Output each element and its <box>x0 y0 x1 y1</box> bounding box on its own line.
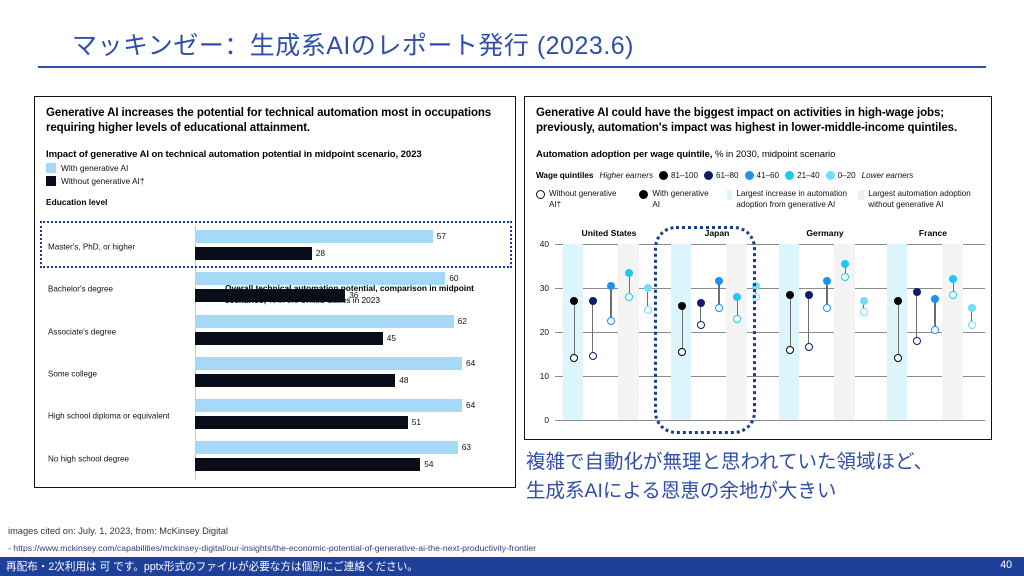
point-without-ai <box>968 321 976 329</box>
bar-area: 6451 <box>195 395 505 437</box>
point-without-ai <box>913 337 921 345</box>
country-group-germany: Germany <box>773 228 877 436</box>
point-with-ai <box>786 291 794 299</box>
band-swatch-icon <box>727 190 732 200</box>
quintile-legend-item: 81–100 <box>659 171 698 180</box>
right-exhibit-headline: Generative AI could have the biggest imp… <box>536 106 980 136</box>
y-axis-tick-label: 10 <box>527 371 549 381</box>
left-exhibit-headline: Generative AI increases the potential fo… <box>46 106 504 136</box>
country-group-united-states: United States <box>557 228 661 436</box>
quintile-legend-item: 41–60 <box>745 171 780 180</box>
bar-area: 6354 <box>195 437 505 479</box>
dumbbell-stem <box>916 292 917 340</box>
quintile-legend-item: 0–20 <box>826 171 856 180</box>
marker-legend-label: Without generative AI† <box>549 189 630 210</box>
quintile-legend-label: 41–60 <box>757 171 780 180</box>
bar-area: 6245 <box>195 311 505 353</box>
point-with-ai <box>607 282 615 290</box>
point-with-ai <box>625 269 633 277</box>
dumbbell-stem <box>898 301 899 358</box>
bar-value-label: 36 <box>349 289 358 302</box>
bar-value-label: 60 <box>449 272 458 285</box>
right-subhead-norm: % in 2030, midpoint scenario <box>715 149 835 160</box>
y-axis-tick-label: 30 <box>527 283 549 293</box>
wage-quintile-legend-label: Wage quintiles <box>536 171 593 180</box>
band-swatch-icon <box>858 190 864 200</box>
point-with-ai <box>752 282 760 290</box>
bar-with-ai <box>195 399 462 412</box>
point-without-ai <box>607 317 615 325</box>
bar-value-label: 48 <box>399 374 408 387</box>
dumbbell-stem <box>808 295 809 348</box>
y-axis-tick-label: 0 <box>527 415 549 425</box>
bar-value-label: 57 <box>437 230 446 243</box>
point-without-ai <box>823 304 831 312</box>
point-without-ai <box>786 346 794 354</box>
marker-legend-item: Without generative AI† <box>536 189 630 210</box>
quintile-dot-icon <box>659 171 668 180</box>
point-without-ai <box>841 273 849 281</box>
point-without-ai <box>860 308 868 316</box>
country-group-france: France <box>881 228 985 436</box>
bar-value-label: 63 <box>462 441 471 454</box>
bar-without-ai <box>195 289 345 302</box>
bar-group: Some college6448 <box>45 353 505 395</box>
point-without-ai <box>697 321 705 329</box>
country-group-japan: Japan <box>665 228 769 436</box>
bar-value-label: 28 <box>316 247 325 260</box>
country-label: Germany <box>773 228 877 238</box>
quintile-legend-label: 61–80 <box>716 171 739 180</box>
quintile-dot-icon <box>704 171 713 180</box>
point-without-ai <box>715 304 723 312</box>
bar-area: 6036 <box>195 268 505 310</box>
quintile-dot-icon <box>745 171 754 180</box>
point-with-ai <box>931 295 939 303</box>
bar-value-label: 62 <box>458 315 467 328</box>
quintile-legend-label: 81–100 <box>671 171 698 180</box>
bar-group: High school diploma or equivalent6451 <box>45 395 505 437</box>
education-bar-chart: Master's, PhD, or higher5728Bachelor's d… <box>45 226 505 480</box>
bar-with-ai <box>195 315 454 328</box>
citation-line-2: - https://www.mckinsey.com/capabilities/… <box>8 543 536 553</box>
point-with-ai <box>894 297 902 305</box>
bar-group: No high school degree6354 <box>45 437 505 479</box>
right-subhead-bold: Automation adoption per wage quintile, <box>536 149 712 160</box>
bar-group: Master's, PhD, or higher5728 <box>45 226 505 268</box>
point-without-ai <box>570 354 578 362</box>
footer-notice-text: 再配布・2次利用は 可 です。pptx形式のファイルが必要な方は個別にご連絡くだ… <box>6 559 418 574</box>
point-without-ai <box>949 291 957 299</box>
legend-swatch-without-ai-icon <box>46 176 56 186</box>
slide-canvas: マッキンゼー：生成系AIのレポート発行 (2023.6) Generative … <box>0 0 1024 576</box>
country-label: Japan <box>665 228 769 238</box>
quintile-dot-icon <box>826 171 835 180</box>
point-with-ai <box>733 293 741 301</box>
bar-with-ai <box>195 441 458 454</box>
country-label: United States <box>557 228 661 238</box>
bar-category-label: No high school degree <box>48 454 129 463</box>
country-plot <box>557 244 661 420</box>
callout-line-2: 生成系AIによる恩恵の余地が大きい <box>526 477 996 506</box>
bar-without-ai <box>195 332 383 345</box>
education-level-axis-label: Education level <box>46 197 504 207</box>
point-without-ai <box>894 354 902 362</box>
marker-legend-label: With generative AI <box>652 189 718 210</box>
legend-item-without-ai: Without generative AI† <box>46 176 504 186</box>
bar-value-label: 64 <box>466 357 475 370</box>
country-label: France <box>881 228 985 238</box>
bar-category-label: Associate's degree <box>48 327 116 336</box>
bar-value-label: 64 <box>466 399 475 412</box>
callout-line-1: 複雑で自動化が無理と思われていた領域ほど、 <box>526 448 996 477</box>
band-legend-item: Largest automation adoption without gene… <box>858 189 980 210</box>
lower-earners-label: Lower earners <box>862 171 914 180</box>
higher-earners-label: Higher earners <box>599 171 653 180</box>
y-axis-tick-label: 40 <box>527 239 549 249</box>
point-with-ai <box>644 284 652 292</box>
bar-category-label: High school diploma or equivalent <box>48 412 169 421</box>
filled-circle-icon <box>639 190 648 199</box>
point-with-ai <box>841 260 849 268</box>
country-plot <box>881 244 985 420</box>
country-plot <box>665 244 769 420</box>
point-with-ai <box>968 304 976 312</box>
bar-with-ai <box>195 357 462 370</box>
left-exhibit-subhead: Impact of generative AI on technical aut… <box>46 149 504 160</box>
bar-group: Bachelor's degree6036 <box>45 268 505 310</box>
wage-quintile-legend: Wage quintiles Higher earners 81–10061–8… <box>536 171 980 180</box>
country-plot <box>773 244 877 420</box>
legend-item-with-ai: With generative AI <box>46 163 504 173</box>
point-without-ai <box>931 326 939 334</box>
bar-area: 5728 <box>195 226 505 268</box>
point-with-ai <box>697 299 705 307</box>
page-title: マッキンゼー：生成系AIのレポート発行 (2023.6) <box>72 26 634 62</box>
point-with-ai <box>805 291 813 299</box>
bar-without-ai <box>195 374 395 387</box>
point-with-ai <box>715 277 723 285</box>
highlight-band-grey <box>726 244 746 420</box>
point-without-ai <box>644 306 652 314</box>
dumbbell-stem <box>574 301 575 358</box>
marker-and-band-legend: Without generative AI†With generative AI… <box>536 189 980 210</box>
bar-value-label: 54 <box>424 458 433 471</box>
dumbbell-stem <box>682 306 683 352</box>
legend-label-with-ai: With generative AI <box>61 163 128 173</box>
bar-category-label: Bachelor's degree <box>48 285 113 294</box>
bar-value-label: 45 <box>387 332 396 345</box>
quintile-legend-label: 0–20 <box>838 171 856 180</box>
hollow-circle-icon <box>536 190 545 199</box>
point-without-ai <box>752 293 760 301</box>
point-without-ai <box>733 315 741 323</box>
dumbbell-stem <box>610 286 611 321</box>
bar-without-ai <box>195 247 312 260</box>
citation-line-1: images cited on: July. 1, 2023, from: Mc… <box>8 526 228 536</box>
legend-label-without-ai: Without generative AI† <box>61 176 144 186</box>
marker-legend-item: With generative AI <box>639 189 718 210</box>
point-with-ai <box>913 288 921 296</box>
bar-category-label: Some college <box>48 370 97 379</box>
bar-group: Associate's degree6245 <box>45 311 505 353</box>
band-legend-label: Largest increase in automation adoption … <box>736 189 849 210</box>
point-with-ai <box>823 277 831 285</box>
point-without-ai <box>678 348 686 356</box>
point-with-ai <box>949 275 957 283</box>
bar-without-ai <box>195 458 420 471</box>
highlight-band-grey <box>942 244 962 420</box>
point-with-ai <box>678 302 686 310</box>
point-with-ai <box>860 297 868 305</box>
band-legend-label: Largest automation adoption without gene… <box>868 189 980 210</box>
legend-swatch-with-ai-icon <box>46 163 56 173</box>
point-without-ai <box>625 293 633 301</box>
quintile-legend-item: 21–40 <box>785 171 820 180</box>
bar-value-label: 51 <box>412 416 421 429</box>
quintile-legend-item: 61–80 <box>704 171 739 180</box>
callout-text: 複雑で自動化が無理と思われていた領域ほど、 生成系AIによる恩恵の余地が大きい <box>526 448 996 506</box>
right-exhibit-subhead: Automation adoption per wage quintile, %… <box>536 149 980 160</box>
point-without-ai <box>589 352 597 360</box>
bar-category-label: Master's, PhD, or higher <box>48 243 135 252</box>
bar-area: 6448 <box>195 353 505 395</box>
quintile-dot-icon <box>785 171 794 180</box>
point-with-ai <box>589 297 597 305</box>
wage-quintile-dumbbell-chart: 010203040United StatesJapanGermanyFrance <box>527 228 989 436</box>
bar-with-ai <box>195 272 445 285</box>
bar-with-ai <box>195 230 433 243</box>
point-without-ai <box>805 343 813 351</box>
footer-bar: 再配布・2次利用は 可 です。pptx形式のファイルが必要な方は個別にご連絡くだ… <box>0 557 1024 576</box>
point-with-ai <box>570 297 578 305</box>
dumbbell-stem <box>790 295 791 350</box>
bar-without-ai <box>195 416 408 429</box>
dumbbell-stem <box>592 301 593 356</box>
y-axis-tick-label: 20 <box>527 327 549 337</box>
band-legend-item: Largest increase in automation adoption … <box>727 189 849 210</box>
quintile-legend-label: 21–40 <box>797 171 820 180</box>
footer-page-number: 40 <box>1000 559 1012 571</box>
title-divider <box>38 66 986 68</box>
